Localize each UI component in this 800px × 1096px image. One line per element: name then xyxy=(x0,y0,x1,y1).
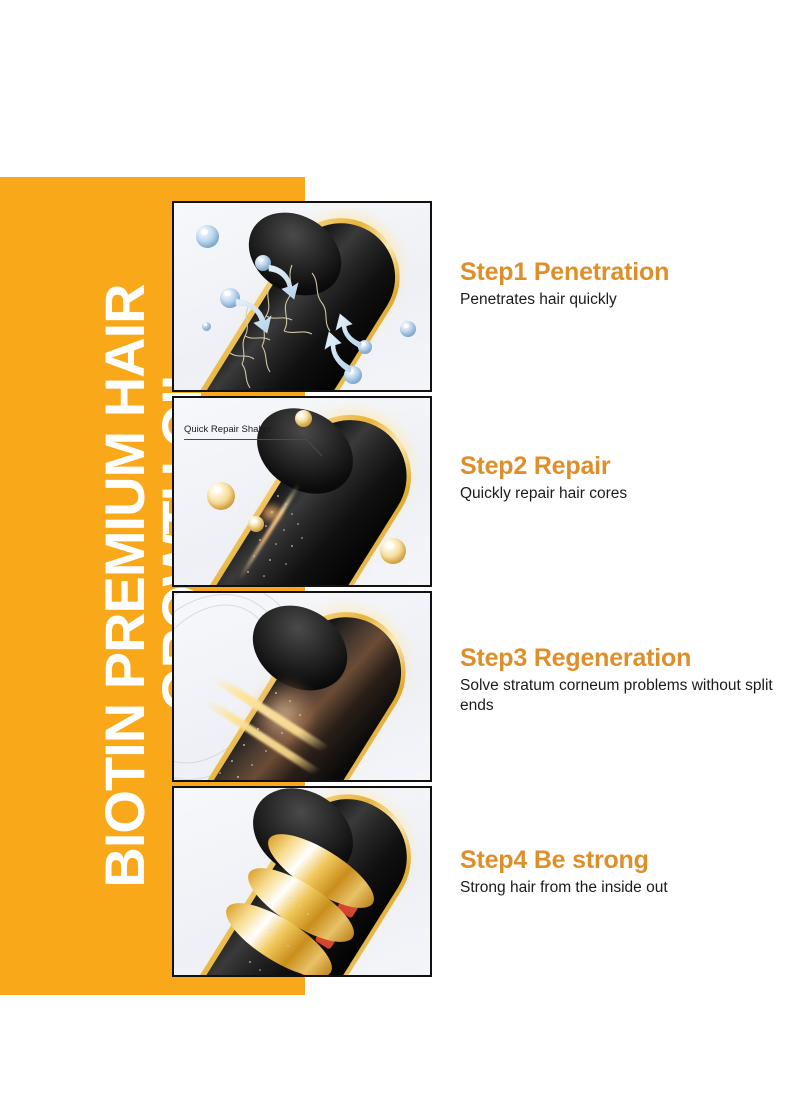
step-block-2: Step2 Repair Quickly repair hair cores xyxy=(460,452,790,504)
step-3-description: Solve stratum corneum problems without s… xyxy=(460,676,790,717)
step-4-title: Step4 Be strong xyxy=(460,846,790,876)
panel-repair-scene: Quick Repair Shaker xyxy=(174,398,430,585)
gold-droplet-left-large xyxy=(207,482,235,510)
step-3-title: Step3 Regeneration xyxy=(460,644,790,674)
step-4-description: Strong hair from the inside out xyxy=(460,878,790,899)
quick-repair-shaker-label: Quick Repair Shaker xyxy=(184,424,272,435)
panel-regeneration-scene xyxy=(174,593,430,780)
panel-be-strong-scene xyxy=(174,788,430,975)
product-infographic: BIOTIN PREMIUM HAIR GROWTH OIL xyxy=(0,0,800,1096)
step-2-title: Step2 Repair xyxy=(460,452,790,482)
bubble-right-edge xyxy=(400,321,416,337)
bubble-entering-upper xyxy=(255,255,271,271)
step-text-column: Step1 Penetration Penetrates hair quickl… xyxy=(460,201,790,972)
panel-be-strong xyxy=(172,786,432,977)
gold-droplet-mid-small xyxy=(248,516,264,532)
step-1-description: Penetrates hair quickly xyxy=(460,290,790,311)
step-1-title: Step1 Penetration xyxy=(460,258,790,288)
step-block-1: Step1 Penetration Penetrates hair quickl… xyxy=(460,258,790,310)
step-2-description: Quickly repair hair cores xyxy=(460,484,790,505)
bubble-entering-mid xyxy=(220,288,240,308)
banner-title-line-1: BIOTIN PREMIUM HAIR xyxy=(95,177,152,995)
gold-droplet-bottom-right xyxy=(380,538,406,564)
quick-repair-shaker-underline xyxy=(184,439,306,440)
step-block-4: Step4 Be strong Strong hair from the ins… xyxy=(460,846,790,898)
panel-repair: Quick Repair Shaker xyxy=(172,396,432,587)
illustration-panel-column: Quick Repair Shaker xyxy=(172,201,432,972)
bubble-entering-bottom xyxy=(344,366,362,384)
gold-droplet-top xyxy=(295,410,312,427)
panel-regeneration xyxy=(172,591,432,782)
bubble-small-left xyxy=(202,322,211,331)
panel-penetration xyxy=(172,201,432,392)
bubble-entering-lower-right xyxy=(358,340,372,354)
step-block-3: Step3 Regeneration Solve stratum corneum… xyxy=(460,644,790,717)
bubble-large-top-left xyxy=(196,225,219,248)
panel-penetration-scene xyxy=(174,203,430,390)
